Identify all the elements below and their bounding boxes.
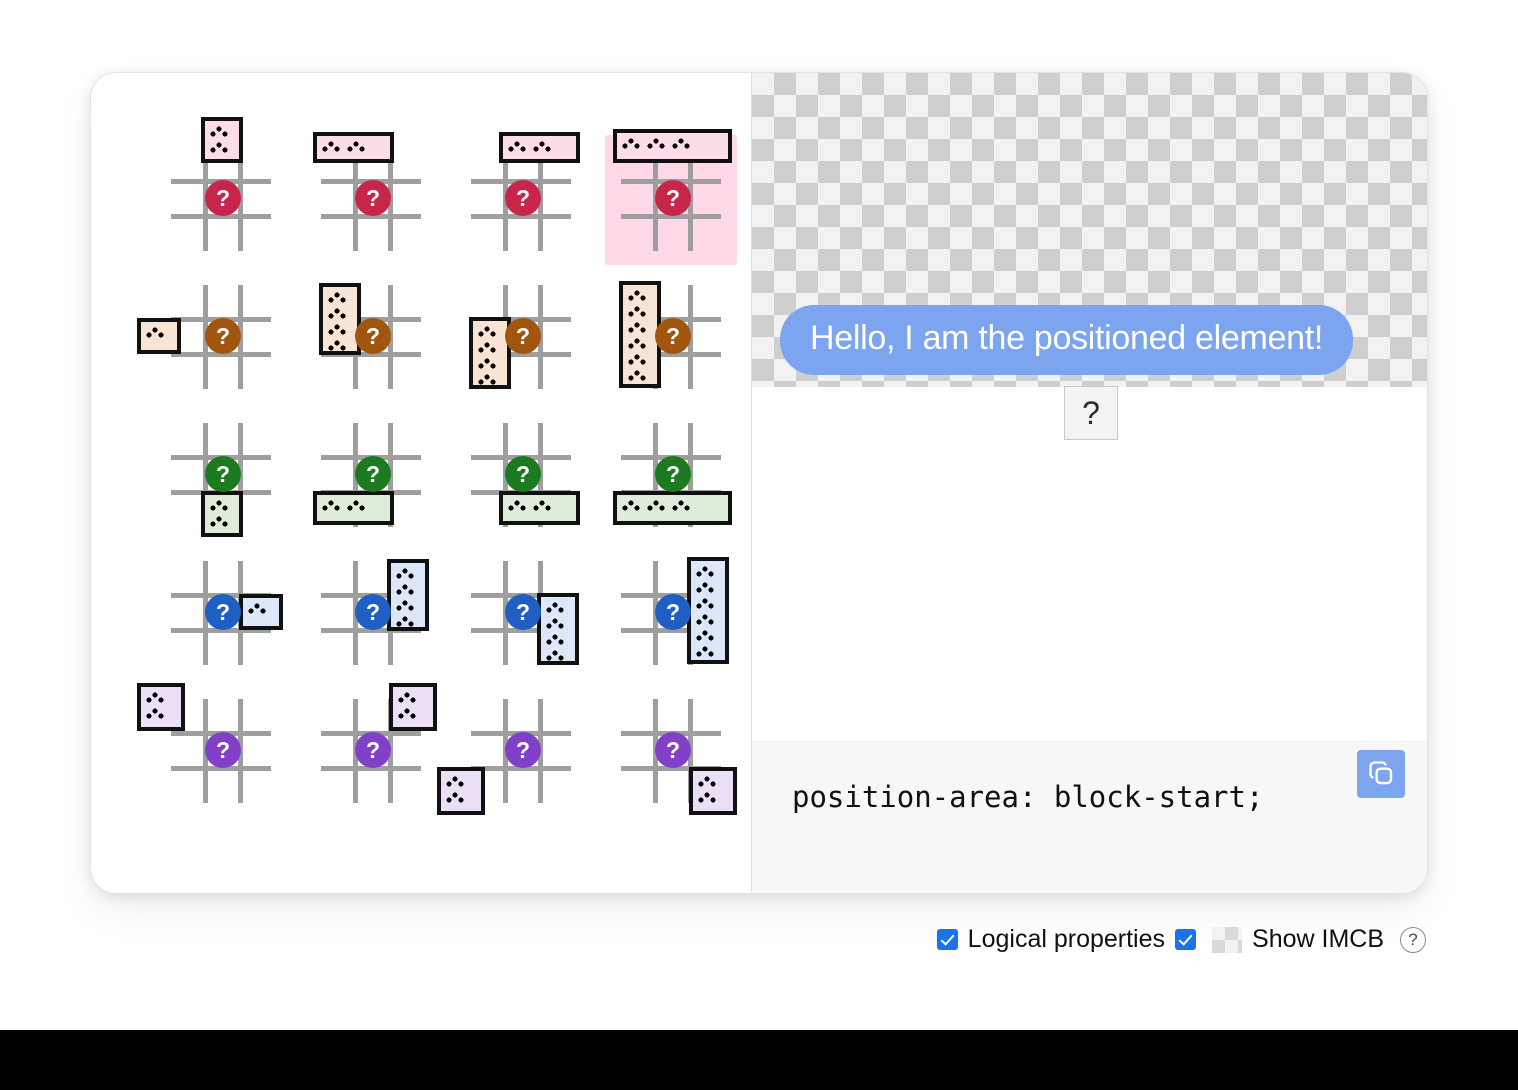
squiggle-icon bbox=[146, 692, 166, 703]
positioned-element-tooltip: Hello, I am the positioned element! bbox=[780, 305, 1353, 375]
position-area-option-block-end-span-inline-end[interactable]: ? bbox=[455, 411, 587, 541]
anchor-dot-icon: ? bbox=[205, 594, 241, 630]
page-root: ???????????????????? Hello, I am the pos… bbox=[0, 0, 1518, 1090]
squiggle-icon bbox=[696, 566, 716, 577]
grid-scaffold-icon: ? bbox=[621, 699, 721, 803]
logical-properties-label: Logical properties bbox=[968, 925, 1165, 954]
grid-scaffold-icon: ? bbox=[471, 699, 571, 803]
text-squiggle-row bbox=[446, 792, 477, 803]
positioned-element-preview bbox=[687, 557, 729, 664]
squiggle-icon bbox=[647, 138, 667, 149]
imcb-swatch-icon bbox=[1212, 927, 1242, 953]
position-area-option-block-start-center[interactable]: ? bbox=[305, 135, 437, 265]
squiggle-icon bbox=[696, 614, 716, 625]
positioned-element-preview bbox=[137, 683, 185, 731]
text-squiggle-row bbox=[146, 708, 177, 719]
text-squiggle-row bbox=[546, 602, 571, 613]
position-area-visualizer-card: ???????????????????? Hello, I am the pos… bbox=[90, 72, 1428, 894]
text-squiggle-row bbox=[508, 500, 572, 511]
anchor-dot-icon: ? bbox=[505, 594, 541, 630]
text-squiggle-row bbox=[696, 582, 721, 593]
positioned-element-preview bbox=[319, 283, 361, 355]
position-area-option-block-start-span-inline-start[interactable]: ? bbox=[155, 135, 287, 265]
positioned-element-preview bbox=[469, 317, 511, 389]
grid-scaffold-icon: ? bbox=[471, 561, 571, 665]
position-area-option-start-end[interactable]: ? bbox=[305, 687, 437, 817]
squiggle-icon bbox=[696, 646, 716, 657]
position-area-picker-grid[interactable]: ???????????????????? bbox=[155, 135, 737, 817]
text-squiggle-row bbox=[478, 326, 503, 337]
anchor-dot-icon: ? bbox=[355, 318, 391, 354]
squiggle-icon bbox=[628, 370, 648, 381]
text-squiggle-row bbox=[398, 692, 429, 703]
squiggle-icon bbox=[396, 584, 416, 595]
positioned-element-preview bbox=[201, 117, 243, 163]
position-area-option-block-end-span-inline-start[interactable]: ? bbox=[155, 411, 287, 541]
anchor-dot-icon: ? bbox=[655, 180, 691, 216]
squiggle-icon bbox=[322, 141, 342, 152]
squiggle-icon bbox=[546, 602, 566, 613]
text-squiggle-row bbox=[396, 584, 421, 595]
code-declaration: position-area: block-start; bbox=[792, 780, 1263, 814]
squiggle-icon bbox=[210, 142, 230, 153]
text-squiggle-row bbox=[146, 327, 173, 338]
show-imcb-label: Show IMCB bbox=[1252, 925, 1384, 954]
text-squiggle-row bbox=[328, 340, 353, 351]
grid-scaffold-icon: ? bbox=[171, 423, 271, 527]
squiggle-icon bbox=[508, 141, 528, 152]
positioned-element-preview bbox=[387, 559, 429, 631]
squiggle-icon bbox=[396, 616, 416, 627]
preview-panel: Hello, I am the positioned element! ? po… bbox=[751, 73, 1427, 893]
text-squiggle-row bbox=[546, 634, 571, 645]
squiggle-icon bbox=[698, 776, 718, 787]
text-squiggle-row bbox=[478, 358, 503, 369]
text-squiggle-row bbox=[396, 616, 421, 627]
text-squiggle-row bbox=[322, 500, 386, 511]
position-area-option-inline-start[interactable]: ? bbox=[605, 273, 737, 403]
positioned-element-preview bbox=[499, 491, 580, 525]
position-area-option-start-start[interactable]: ? bbox=[155, 687, 287, 817]
positioned-element-preview bbox=[613, 491, 732, 525]
positioned-element-preview bbox=[239, 594, 283, 630]
text-squiggle-row bbox=[622, 500, 724, 511]
squiggle-icon bbox=[446, 792, 466, 803]
squiggle-icon bbox=[622, 138, 642, 149]
text-squiggle-row bbox=[396, 568, 421, 579]
text-squiggle-row bbox=[696, 598, 721, 609]
squiggle-icon bbox=[146, 327, 166, 338]
squiggle-icon bbox=[210, 516, 230, 527]
position-area-option-block-start-span-inline-end[interactable]: ? bbox=[455, 135, 587, 265]
anchor-dot-icon: ? bbox=[505, 456, 541, 492]
text-squiggle-row bbox=[696, 630, 721, 641]
copy-icon bbox=[1366, 758, 1396, 791]
position-area-picker-panel: ???????????????????? bbox=[91, 73, 751, 893]
squiggle-icon bbox=[647, 500, 667, 511]
text-squiggle-row bbox=[210, 142, 235, 153]
position-area-option-end-end[interactable]: ? bbox=[605, 687, 737, 817]
text-squiggle-row bbox=[210, 126, 235, 137]
positioned-element-preview bbox=[313, 491, 394, 525]
squiggle-icon bbox=[696, 630, 716, 641]
position-area-option-inline-start-span-block-end[interactable]: ? bbox=[455, 273, 587, 403]
grid-scaffold-icon: ? bbox=[621, 561, 721, 665]
anchor-dot-icon: ? bbox=[205, 180, 241, 216]
grid-scaffold-icon: ? bbox=[171, 699, 271, 803]
position-area-option-inline-start-span-block-start[interactable]: ? bbox=[155, 273, 287, 403]
position-area-option-inline-end-span-block-end[interactable]: ? bbox=[455, 549, 587, 679]
text-squiggle-row bbox=[248, 603, 275, 614]
copy-button[interactable] bbox=[1357, 750, 1405, 798]
squiggle-icon bbox=[478, 358, 498, 369]
squiggle-icon bbox=[146, 708, 166, 719]
text-squiggle-row bbox=[146, 692, 177, 703]
squiggle-icon bbox=[628, 338, 648, 349]
text-squiggle-row bbox=[210, 500, 235, 511]
text-squiggle-row bbox=[508, 141, 572, 152]
position-area-option-block-start[interactable]: ? bbox=[605, 135, 737, 265]
text-squiggle-row bbox=[210, 516, 235, 527]
positioned-element-preview bbox=[437, 767, 485, 815]
squiggle-icon bbox=[328, 324, 348, 335]
positioned-element-preview bbox=[137, 318, 181, 354]
anchor-dot-icon: ? bbox=[355, 594, 391, 630]
text-squiggle-row bbox=[478, 374, 503, 385]
grid-scaffold-icon: ? bbox=[321, 285, 421, 389]
grid-scaffold-icon: ? bbox=[171, 561, 271, 665]
text-squiggle-row bbox=[628, 338, 653, 349]
position-area-option-block-end[interactable]: ? bbox=[605, 411, 737, 541]
text-squiggle-row bbox=[446, 776, 477, 787]
squiggle-icon bbox=[628, 290, 648, 301]
anchor-dot-icon: ? bbox=[655, 318, 691, 354]
text-squiggle-row bbox=[696, 566, 721, 577]
bottom-bar bbox=[0, 1030, 1518, 1090]
positioned-element-preview bbox=[389, 683, 437, 731]
squiggle-icon bbox=[622, 500, 642, 511]
text-squiggle-row bbox=[398, 708, 429, 719]
footer-controls: Logical properties Show IMCB ? bbox=[937, 925, 1426, 954]
anchor-dot-icon: ? bbox=[655, 594, 691, 630]
show-imcb-checkbox[interactable] bbox=[1175, 929, 1196, 950]
anchor-dot-icon: ? bbox=[655, 732, 691, 768]
anchor-dot-icon: ? bbox=[655, 456, 691, 492]
grid-scaffold-icon: ? bbox=[471, 285, 571, 389]
anchor-dot-icon: ? bbox=[205, 456, 241, 492]
grid-scaffold-icon: ? bbox=[471, 147, 571, 251]
positioned-element-preview bbox=[613, 129, 732, 163]
code-panel: position-area: block-start; bbox=[752, 741, 1427, 893]
position-area-option-inline-end-span-block-start[interactable]: ? bbox=[155, 549, 287, 679]
squiggle-icon bbox=[698, 792, 718, 803]
squiggle-icon bbox=[396, 568, 416, 579]
squiggle-icon bbox=[248, 603, 268, 614]
anchor-dot-icon: ? bbox=[355, 732, 391, 768]
squiggle-icon bbox=[533, 500, 553, 511]
anchor-dot-icon: ? bbox=[205, 732, 241, 768]
anchor-dot-icon: ? bbox=[355, 456, 391, 492]
squiggle-icon bbox=[628, 322, 648, 333]
positioned-element-preview bbox=[499, 132, 580, 163]
text-squiggle-row bbox=[696, 646, 721, 657]
text-squiggle-row bbox=[622, 138, 724, 149]
grid-scaffold-icon: ? bbox=[621, 423, 721, 527]
squiggle-icon bbox=[546, 634, 566, 645]
squiggle-icon bbox=[322, 500, 342, 511]
squiggle-icon bbox=[546, 618, 566, 629]
squiggle-icon bbox=[478, 374, 498, 385]
position-area-option-inline-start-center[interactable]: ? bbox=[305, 273, 437, 403]
squiggle-icon bbox=[628, 354, 648, 365]
squiggle-icon bbox=[478, 342, 498, 353]
text-squiggle-row bbox=[628, 322, 653, 333]
position-area-option-inline-end[interactable]: ? bbox=[605, 549, 737, 679]
squiggle-icon bbox=[696, 582, 716, 593]
grid-scaffold-icon: ? bbox=[171, 285, 271, 389]
squiggle-icon bbox=[546, 650, 566, 661]
grid-scaffold-icon: ? bbox=[321, 561, 421, 665]
anchor-dot-icon: ? bbox=[205, 318, 241, 354]
positioned-element-preview bbox=[537, 593, 579, 665]
anchor-dot-icon: ? bbox=[505, 318, 541, 354]
anchor-dot-icon: ? bbox=[505, 180, 541, 216]
squiggle-icon bbox=[347, 141, 367, 152]
positioned-element-preview bbox=[313, 132, 394, 163]
anchor-dot-icon: ? bbox=[505, 732, 541, 768]
position-area-option-inline-end-center[interactable]: ? bbox=[305, 549, 437, 679]
squiggle-icon bbox=[478, 326, 498, 337]
squiggle-icon bbox=[628, 306, 648, 317]
help-icon[interactable]: ? bbox=[1400, 927, 1426, 953]
text-squiggle-row bbox=[698, 776, 729, 787]
anchor-element[interactable]: ? bbox=[1064, 386, 1118, 440]
squiggle-icon bbox=[672, 138, 692, 149]
position-area-option-block-end-center[interactable]: ? bbox=[305, 411, 437, 541]
position-area-option-end-start[interactable]: ? bbox=[455, 687, 587, 817]
squiggle-icon bbox=[533, 141, 553, 152]
logical-properties-checkbox[interactable] bbox=[937, 929, 958, 950]
squiggle-icon bbox=[696, 598, 716, 609]
text-squiggle-row bbox=[328, 308, 353, 319]
text-squiggle-row bbox=[696, 614, 721, 625]
text-squiggle-row bbox=[328, 324, 353, 335]
text-squiggle-row bbox=[628, 290, 653, 301]
text-squiggle-row bbox=[628, 370, 653, 381]
text-squiggle-row bbox=[396, 600, 421, 611]
squiggle-icon bbox=[396, 600, 416, 611]
squiggle-icon bbox=[398, 708, 418, 719]
text-squiggle-row bbox=[628, 354, 653, 365]
grid-scaffold-icon: ? bbox=[321, 147, 421, 251]
squiggle-icon bbox=[398, 692, 418, 703]
text-squiggle-row bbox=[698, 792, 729, 803]
squiggle-icon bbox=[328, 308, 348, 319]
grid-scaffold-icon: ? bbox=[621, 285, 721, 389]
grid-scaffold-icon: ? bbox=[321, 423, 421, 527]
text-squiggle-row bbox=[546, 618, 571, 629]
squiggle-icon bbox=[328, 340, 348, 351]
anchor-dot-icon: ? bbox=[355, 180, 391, 216]
text-squiggle-row bbox=[328, 292, 353, 303]
squiggle-icon bbox=[446, 776, 466, 787]
squiggle-icon bbox=[508, 500, 528, 511]
squiggle-icon bbox=[347, 500, 367, 511]
text-squiggle-row bbox=[546, 650, 571, 661]
grid-scaffold-icon: ? bbox=[621, 147, 721, 251]
text-squiggle-row bbox=[628, 306, 653, 317]
text-squiggle-row bbox=[322, 141, 386, 152]
grid-scaffold-icon: ? bbox=[321, 699, 421, 803]
squiggle-icon bbox=[328, 292, 348, 303]
grid-scaffold-icon: ? bbox=[171, 147, 271, 251]
positioned-element-preview bbox=[689, 767, 737, 815]
grid-scaffold-icon: ? bbox=[471, 423, 571, 527]
squiggle-icon bbox=[210, 126, 230, 137]
positioned-element-preview bbox=[201, 491, 243, 537]
squiggle-icon bbox=[210, 500, 230, 511]
squiggle-icon bbox=[672, 500, 692, 511]
text-squiggle-row bbox=[478, 342, 503, 353]
